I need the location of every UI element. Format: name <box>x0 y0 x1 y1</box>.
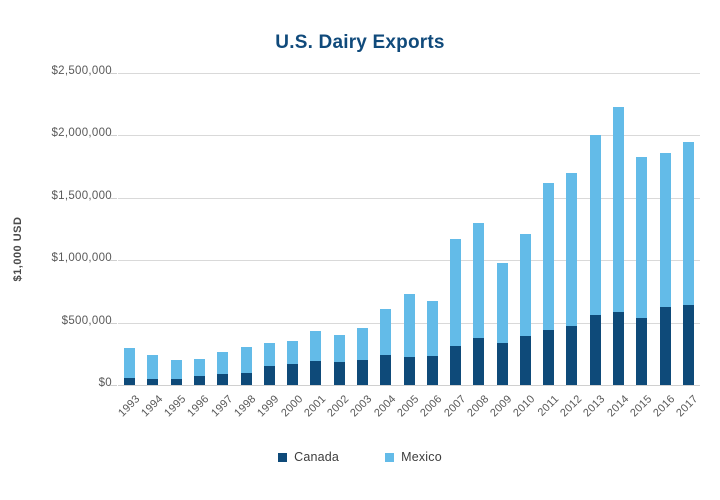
bar-segment-canada[interactable] <box>427 356 438 385</box>
bar-segment-mexico[interactable] <box>520 234 531 336</box>
legend-item-mexico[interactable]: Mexico <box>385 450 442 464</box>
bar-group[interactable] <box>497 73 508 385</box>
bar-group[interactable] <box>473 73 484 385</box>
y-axis-tick-label: $0 <box>8 377 112 389</box>
bar-segment-mexico[interactable] <box>404 294 415 357</box>
plot-area <box>118 73 700 385</box>
x-axis-tick-labels: 1993199419951996199719981999200020012002… <box>118 389 700 449</box>
bar-group[interactable] <box>310 73 321 385</box>
bar-segment-mexico[interactable] <box>450 239 461 346</box>
bar-segment-mexico[interactable] <box>613 107 624 312</box>
bar-segment-mexico[interactable] <box>217 352 228 374</box>
bar-segment-canada[interactable] <box>334 362 345 385</box>
bar-group[interactable] <box>683 73 694 385</box>
bar-group[interactable] <box>380 73 391 385</box>
y-axis-tick-label: $1,500,000 <box>8 190 112 202</box>
bar-segment-mexico[interactable] <box>427 301 438 355</box>
bar-segment-mexico[interactable] <box>194 359 205 376</box>
bar-segment-mexico[interactable] <box>310 331 321 361</box>
bar-segment-mexico[interactable] <box>590 135 601 315</box>
bar-group[interactable] <box>147 73 158 385</box>
y-axis-tick-mark <box>110 385 117 386</box>
bar-segment-canada[interactable] <box>380 355 391 385</box>
bar-group[interactable] <box>450 73 461 385</box>
bar-group[interactable] <box>427 73 438 385</box>
legend-item-canada[interactable]: Canada <box>278 450 339 464</box>
bar-segment-canada[interactable] <box>497 343 508 385</box>
bar-segment-mexico[interactable] <box>334 335 345 362</box>
bar-segment-mexico[interactable] <box>241 347 252 373</box>
bar-group[interactable] <box>171 73 182 385</box>
bar-segment-canada[interactable] <box>264 366 275 385</box>
bar-group[interactable] <box>404 73 415 385</box>
bar-segment-canada[interactable] <box>543 330 554 385</box>
bar-group[interactable] <box>613 73 624 385</box>
bar-segment-canada[interactable] <box>660 307 671 385</box>
y-axis-tick-mark <box>110 260 117 261</box>
bar-segment-mexico[interactable] <box>497 263 508 343</box>
bar-segment-mexico[interactable] <box>636 157 647 318</box>
y-axis-tick-mark <box>110 198 117 199</box>
bar-segment-canada[interactable] <box>404 357 415 385</box>
bar-segment-canada[interactable] <box>241 373 252 385</box>
y-axis-tick-label: $2,500,000 <box>8 65 112 77</box>
bar-group[interactable] <box>357 73 368 385</box>
bar-group[interactable] <box>543 73 554 385</box>
gridline <box>118 385 700 386</box>
bar-segment-mexico[interactable] <box>264 343 275 366</box>
y-axis-tick-mark <box>110 323 117 324</box>
bar-segment-canada[interactable] <box>357 360 368 385</box>
bar-segment-canada[interactable] <box>520 336 531 385</box>
bar-segment-canada[interactable] <box>473 338 484 385</box>
bar-group[interactable] <box>520 73 531 385</box>
bar-segment-canada[interactable] <box>450 346 461 385</box>
bar-segment-mexico[interactable] <box>660 153 671 307</box>
bar-segment-canada[interactable] <box>217 374 228 385</box>
bar-group[interactable] <box>194 73 205 385</box>
bar-segment-mexico[interactable] <box>171 360 182 379</box>
bar-segment-canada[interactable] <box>147 379 158 385</box>
bar-group[interactable] <box>241 73 252 385</box>
bar-group[interactable] <box>264 73 275 385</box>
bar-group[interactable] <box>334 73 345 385</box>
legend-label: Mexico <box>401 450 442 464</box>
bar-segment-canada[interactable] <box>613 312 624 385</box>
bar-group[interactable] <box>660 73 671 385</box>
bar-group[interactable] <box>217 73 228 385</box>
bar-segment-mexico[interactable] <box>357 328 368 360</box>
bar-group[interactable] <box>287 73 298 385</box>
bar-segment-canada[interactable] <box>124 378 135 385</box>
bar-group[interactable] <box>566 73 577 385</box>
bar-segment-mexico[interactable] <box>124 348 135 379</box>
bar-segment-mexico[interactable] <box>147 355 158 378</box>
legend-swatch-icon <box>385 453 394 462</box>
bar-segment-canada[interactable] <box>566 326 577 385</box>
y-axis-tick-label: $2,000,000 <box>8 127 112 139</box>
bar-group[interactable] <box>590 73 601 385</box>
bar-segment-mexico[interactable] <box>543 183 554 330</box>
chart-container: U.S. Dairy Exports $1,000 USD $2,500,000… <box>0 0 720 500</box>
bar-segment-mexico[interactable] <box>566 173 577 327</box>
y-axis-tick-label: $500,000 <box>8 315 112 327</box>
bar-segment-canada[interactable] <box>310 361 321 385</box>
y-axis-tick-mark <box>110 135 117 136</box>
bar-segment-mexico[interactable] <box>473 223 484 338</box>
legend-swatch-icon <box>278 453 287 462</box>
y-axis-tick-mark <box>110 73 117 74</box>
bar-segment-mexico[interactable] <box>683 142 694 305</box>
bar-segment-canada[interactable] <box>287 364 298 385</box>
bar-group[interactable] <box>124 73 135 385</box>
chart-legend: CanadaMexico <box>0 450 720 464</box>
y-axis-tick-label: $1,000,000 <box>8 252 112 264</box>
bar-segment-mexico[interactable] <box>287 341 298 364</box>
bar-segment-canada[interactable] <box>636 318 647 385</box>
bar-segment-mexico[interactable] <box>380 309 391 355</box>
bar-segment-canada[interactable] <box>194 376 205 385</box>
legend-label: Canada <box>294 450 339 464</box>
bar-group[interactable] <box>636 73 647 385</box>
bar-segment-canada[interactable] <box>590 315 601 385</box>
bar-segment-canada[interactable] <box>683 305 694 385</box>
y-axis-tick-labels: $2,500,000$2,000,000$1,500,000$1,000,000… <box>0 0 112 500</box>
bar-segment-canada[interactable] <box>171 379 182 385</box>
